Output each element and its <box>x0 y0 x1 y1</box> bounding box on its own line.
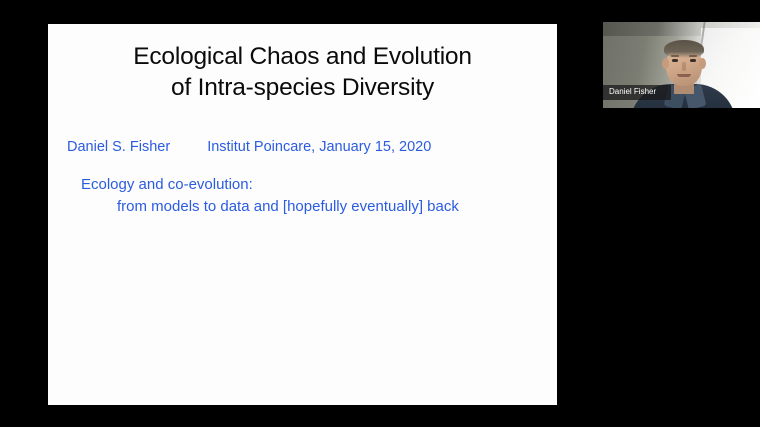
participant-eyebrow-right <box>689 55 697 57</box>
participant-eyebrow-left <box>671 55 679 57</box>
slide-venue-date: Institut Poincare, January 15, 2020 <box>207 138 431 157</box>
participant-mouth <box>677 74 691 77</box>
shared-slide[interactable]: Ecological Chaos and Evolution of Intra-… <box>48 24 557 405</box>
participant-ear-right <box>699 58 706 69</box>
slide-title: Ecological Chaos and Evolution of Intra-… <box>48 41 557 103</box>
participant-hair <box>664 40 704 58</box>
slide-title-line-1: Ecological Chaos and Evolution <box>48 41 557 72</box>
slide-subtitle-line-1: Ecology and co-evolution: <box>81 174 551 196</box>
participant-name-label: Daniel Fisher <box>603 85 671 100</box>
slide-subtitle-block: Ecology and co-evolution: from models to… <box>81 174 551 218</box>
participant-ear-left <box>662 58 669 69</box>
slide-author: Daniel S. Fisher <box>67 138 170 157</box>
participant-video-tile[interactable]: Daniel Fisher <box>603 22 760 108</box>
slide-byline: Daniel S. Fisher Institut Poincare, Janu… <box>67 138 547 157</box>
participant-eye-left <box>672 59 678 62</box>
slide-title-line-2: of Intra-species Diversity <box>48 72 557 103</box>
participant-eye-right <box>690 59 696 62</box>
slide-subtitle-line-2: from models to data and [hopefully event… <box>81 196 551 218</box>
screen-share-window: Ecological Chaos and Evolution of Intra-… <box>0 0 760 427</box>
participant-nose <box>682 62 686 71</box>
